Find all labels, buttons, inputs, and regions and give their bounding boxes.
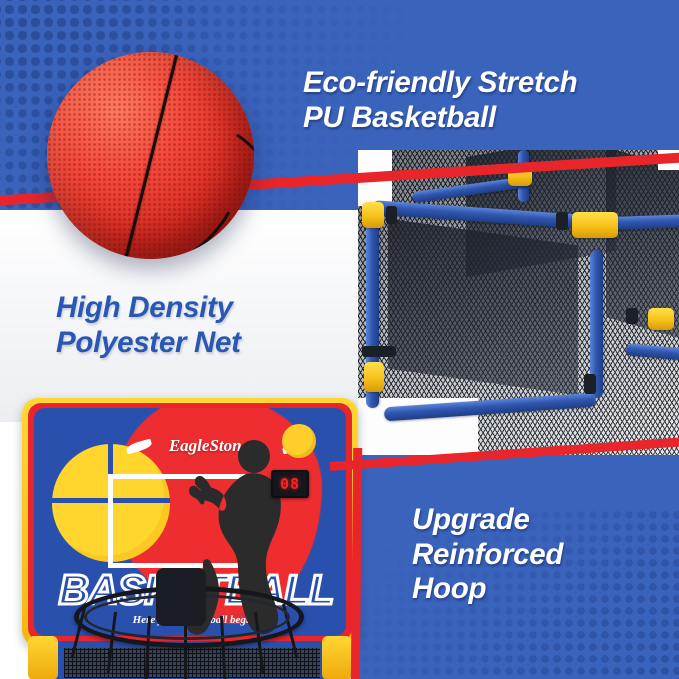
backboard-player-ball	[282, 424, 316, 458]
frame-joint-mid-right	[648, 308, 674, 330]
net-panel-front	[388, 219, 578, 396]
score-digits: 08	[280, 475, 300, 493]
frame-clamp-bottom	[584, 374, 596, 394]
digital-score-display: 08	[271, 470, 309, 498]
frame-clamp-right	[626, 308, 638, 324]
feature-caption-polyester-net: High Density Polyester Net	[56, 291, 386, 360]
polyester-net-photo	[358, 150, 679, 460]
frame-joint-bottom-left	[364, 362, 384, 392]
frame-joint-top-left	[362, 202, 384, 228]
backboard-hoop-photo: EagleStone 08 BASKETBALL Here your baske…	[22, 398, 362, 679]
basketball-sphere	[47, 52, 254, 259]
feature-caption-eco-stretch-pu: Eco-friendly Stretch PU Basketball	[303, 66, 675, 135]
frame-joint-top-center	[572, 212, 618, 238]
backboard-base-mesh	[64, 648, 320, 678]
frame-clamp-top-right	[556, 212, 568, 230]
backboard-foot-right	[322, 636, 352, 679]
backboard-foot-left	[28, 636, 58, 679]
hoop-mounting-plate	[156, 568, 206, 626]
feature-caption-reinforced-hoop: Upgrade Reinforced Hoop	[412, 503, 679, 607]
frame-clamp-top-left	[386, 206, 397, 224]
pu-basketball-photo	[47, 52, 254, 259]
product-feature-infographic: EagleStone 08 BASKETBALL Here your baske…	[0, 0, 679, 679]
